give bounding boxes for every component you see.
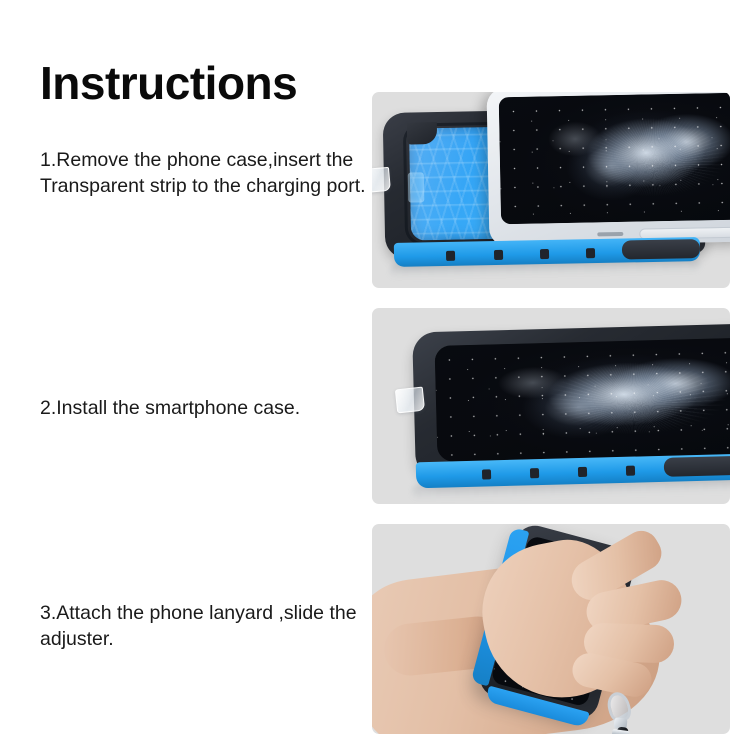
lanyard bbox=[598, 692, 658, 734]
rail-button-cover bbox=[482, 469, 491, 479]
phone-screen bbox=[499, 92, 730, 224]
rail-button-cover bbox=[446, 251, 455, 261]
instructions-page: Instructions 1.Remove the phone case,ins… bbox=[0, 0, 750, 750]
transparent-strip-tab bbox=[395, 387, 425, 414]
wave-wallpaper bbox=[499, 92, 730, 224]
step-1-text: 1.Remove the phone case,insert the Trans… bbox=[40, 148, 370, 199]
rail-button-cover bbox=[530, 468, 539, 478]
step-3-text: 3.Attach the phone lanyard ,slide the ad… bbox=[40, 601, 370, 652]
step-1-image-panel bbox=[372, 92, 730, 288]
rail-end-cap bbox=[664, 456, 730, 477]
rail-button-cover bbox=[626, 466, 635, 476]
step-3-image-panel bbox=[372, 524, 730, 734]
phone-screen bbox=[435, 337, 730, 461]
step-3-illustration bbox=[372, 524, 730, 734]
rail-button-cover bbox=[578, 467, 587, 477]
step-1-illustration bbox=[372, 92, 730, 288]
step-2-illustration bbox=[372, 308, 730, 504]
rail-button-cover bbox=[586, 248, 595, 258]
transparent-strip-tab bbox=[372, 167, 391, 193]
rail-button-cover bbox=[540, 249, 549, 259]
step-2-image-panel bbox=[372, 308, 730, 504]
page-title: Instructions bbox=[40, 59, 297, 107]
rail-button-cover bbox=[494, 250, 503, 260]
rail-end-cap bbox=[622, 239, 700, 259]
speaker-slot bbox=[597, 232, 623, 236]
charging-port-plug bbox=[408, 172, 425, 202]
phone-body bbox=[487, 92, 730, 246]
wave-wallpaper bbox=[435, 337, 730, 461]
step-2-text: 2.Install the smartphone case. bbox=[40, 396, 370, 422]
